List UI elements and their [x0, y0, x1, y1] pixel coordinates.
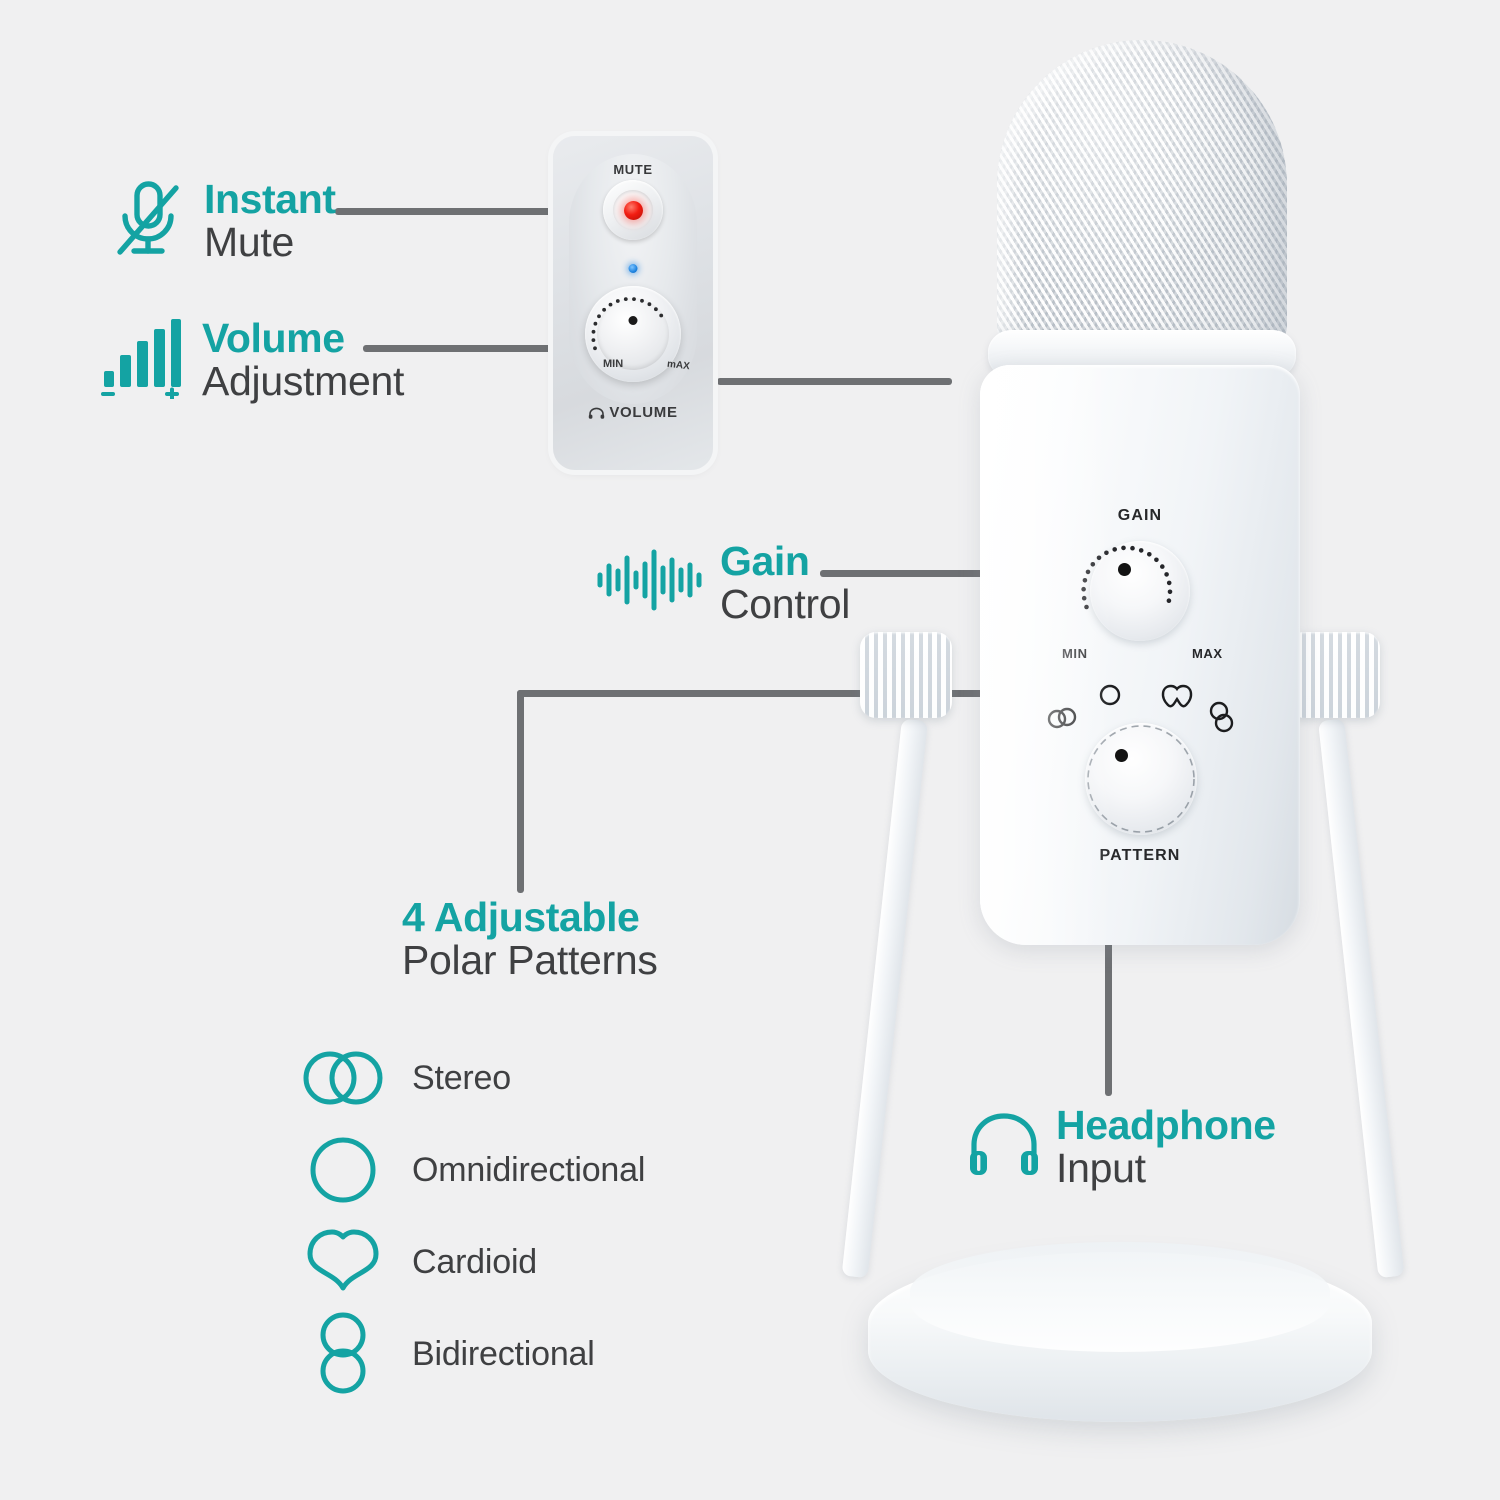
mute-label: MUTE [553, 162, 713, 177]
volume-min-label: MIN [603, 358, 623, 370]
callout-title: Volume [202, 317, 404, 360]
gain-min-label: MIN [1062, 646, 1088, 661]
mute-button[interactable] [603, 180, 663, 240]
callout-title: Instant [204, 178, 336, 221]
callout-polar-patterns: 4 Adjustable Polar Patterns [402, 896, 658, 983]
volume-bars-icon [100, 315, 186, 404]
callout-subtitle: Adjustment [202, 360, 404, 403]
omnidirectional-circle-icon [300, 1134, 386, 1206]
microphone-grille [997, 40, 1287, 345]
yoke-thumbscrew-left[interactable] [860, 632, 952, 718]
polar-pattern-legend: Stereo Omnidirectional Cardioid [300, 1032, 645, 1400]
list-item: Bidirectional [300, 1308, 645, 1400]
callout-title: 4 Adjustable [402, 896, 658, 939]
list-item: Stereo [300, 1032, 645, 1124]
detail-panel-mute-volume: MUTE MIN mAX [553, 136, 713, 470]
stand-arm-left [842, 719, 928, 1279]
list-item: Omnidirectional [300, 1124, 645, 1216]
list-item-label: Bidirectional [412, 1335, 595, 1374]
status-led-blue [629, 264, 638, 273]
pattern-label: PATTERN [980, 847, 1300, 865]
microphone-muted-icon [108, 176, 188, 265]
callout-gain-control: Gain Control [596, 540, 850, 625]
microphone-body: GAIN [980, 365, 1300, 945]
infographic-stage: Instant Mute Volume Adjustment [0, 0, 1500, 1500]
list-item-label: Cardioid [412, 1243, 537, 1282]
callout-subtitle: Control [720, 583, 850, 626]
audio-waveform-icon [596, 544, 704, 621]
headphones-glyph-icon [588, 406, 605, 423]
cardioid-heart-icon [300, 1228, 386, 1296]
mute-button-inner [613, 190, 653, 230]
list-item: Cardioid [300, 1216, 645, 1308]
callout-instant-mute: Instant Mute [108, 176, 336, 265]
callout-volume-adjustment: Volume Adjustment [100, 315, 404, 404]
callout-subtitle: Mute [204, 221, 336, 264]
gain-knob[interactable] [1090, 541, 1190, 641]
pattern-knob[interactable] [1085, 723, 1197, 835]
callout-text: Volume Adjustment [202, 317, 404, 402]
stereo-two-overlapping-circles-icon [300, 1048, 386, 1108]
gain-max-label: MAX [1192, 646, 1223, 661]
callout-title: Gain [720, 540, 850, 583]
yoke-thumbscrew-right[interactable] [1288, 632, 1380, 718]
list-item-label: Omnidirectional [412, 1151, 645, 1190]
microphone-illustration: GAIN [840, 20, 1400, 1480]
stand-base-top [910, 1242, 1330, 1352]
volume-title-label: VOLUME [609, 404, 677, 421]
volume-title: VOLUME [553, 404, 713, 423]
list-item-label: Stereo [412, 1059, 511, 1098]
callout-text: Instant Mute [204, 178, 336, 263]
callout-text: Gain Control [720, 540, 850, 625]
callout-subtitle: Polar Patterns [402, 939, 658, 982]
mute-led-red [624, 201, 643, 220]
stand-arm-right [1318, 719, 1404, 1279]
bidirectional-figure-eight-icon [300, 1311, 386, 1397]
connector-line-polar-vertical [517, 690, 524, 893]
